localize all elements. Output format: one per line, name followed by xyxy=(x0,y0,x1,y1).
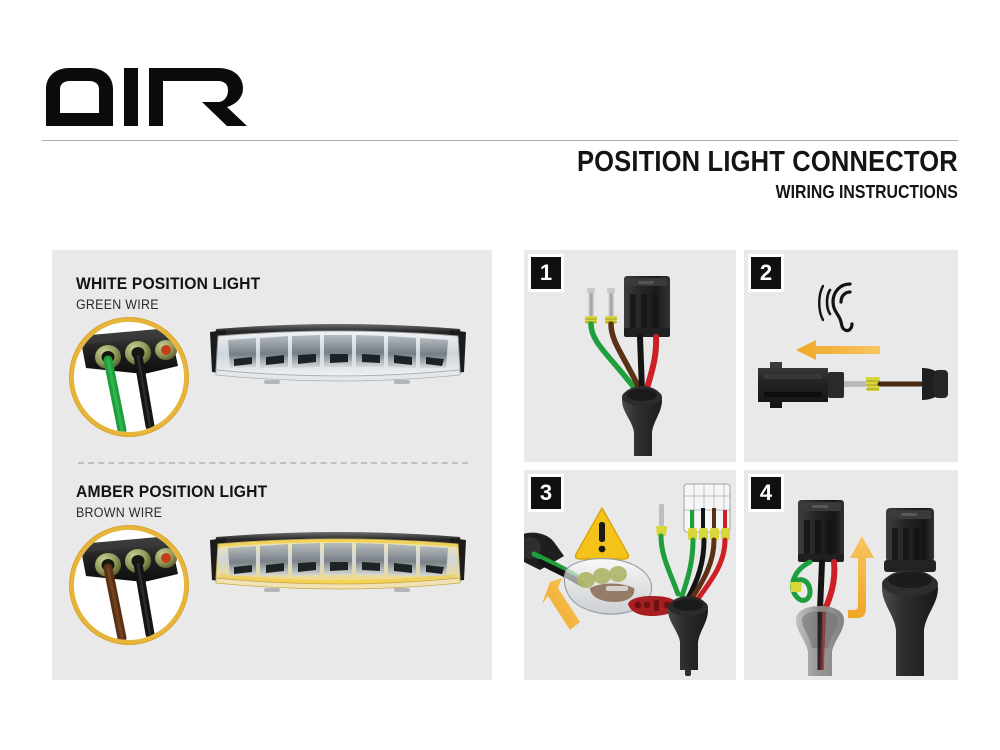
variant-title: AMBER POSITION LIGHT xyxy=(76,482,267,502)
variant-wire-label: BROWN WIRE xyxy=(76,505,162,520)
step-number-badge: 2 xyxy=(748,254,784,292)
header-divider xyxy=(42,140,958,141)
air-wordmark-logo xyxy=(42,66,272,128)
product-variants-panel: WHITE POSITION LIGHT GREEN WIRE xyxy=(52,250,492,680)
variant-wire-label: GREEN WIRE xyxy=(76,297,159,312)
led-light-bar-amber xyxy=(204,520,472,605)
step-number-badge: 4 xyxy=(748,474,784,512)
led-light-bar-white xyxy=(204,312,472,397)
dashed-divider xyxy=(78,462,468,464)
step-panel-1: 1 xyxy=(524,250,736,462)
page-title: POSITION LIGHT CONNECTOR xyxy=(577,148,958,178)
title-block: POSITION LIGHT CONNECTOR WIRING INSTRUCT… xyxy=(525,148,958,203)
step-panel-4: 4 xyxy=(744,470,958,680)
step-number-badge: 3 xyxy=(528,474,564,512)
variant-title: WHITE POSITION LIGHT xyxy=(76,274,260,294)
connector-pin-detail-brown-wire xyxy=(74,530,184,640)
step-number-badge: 1 xyxy=(528,254,564,292)
step-panel-3: 3 xyxy=(524,470,736,680)
connector-pin-detail-green-wire xyxy=(74,322,184,432)
page-subtitle: WIRING INSTRUCTIONS xyxy=(577,182,958,203)
step-panel-2: 2 xyxy=(744,250,958,462)
instruction-sheet: POSITION LIGHT CONNECTOR WIRING INSTRUCT… xyxy=(0,0,1000,750)
